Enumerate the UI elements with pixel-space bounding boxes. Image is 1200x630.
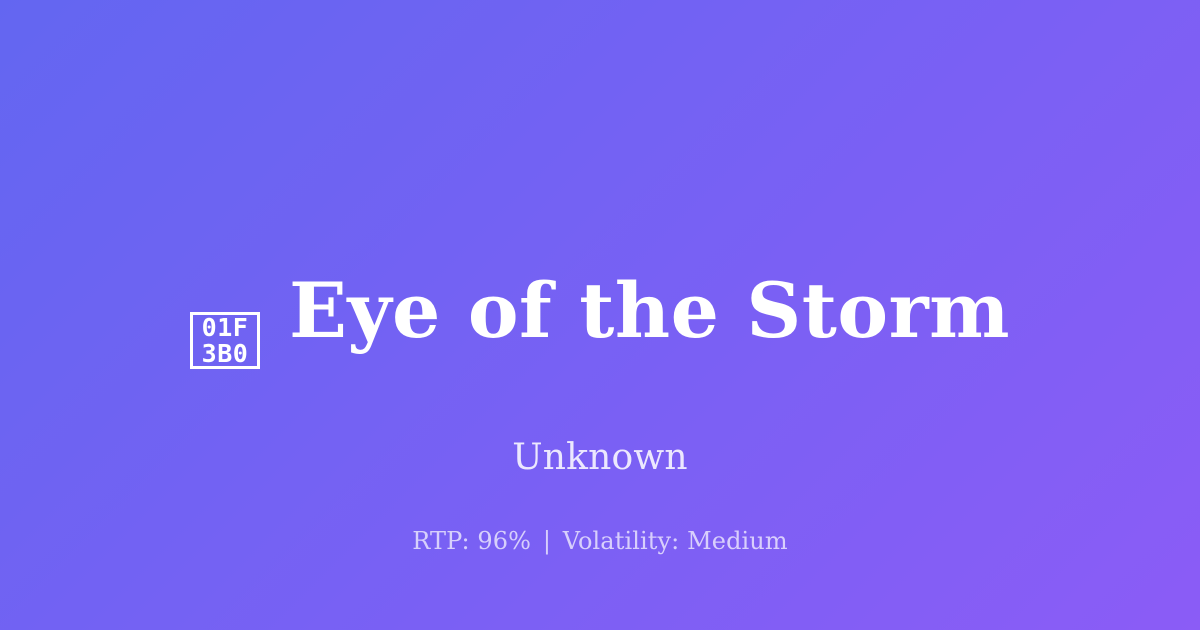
stats-separator: | [539, 527, 555, 555]
rtp-label: RTP: [412, 527, 469, 555]
game-stats-line: RTP: 96% | Volatility: Medium [0, 527, 1200, 555]
volatility-value: Medium [687, 527, 788, 555]
hero-block: 01F 3B0 Eye of the Storm Unknown [0, 222, 1200, 478]
volatility-label: Volatility: [563, 527, 680, 555]
game-title: Eye of the Storm [289, 273, 1010, 349]
tofu-codepoint-top: 01F [202, 315, 249, 340]
rtp-value: 96% [477, 527, 531, 555]
tofu-codepoint-bottom: 3B0 [202, 341, 249, 366]
title-row: 01F 3B0 Eye of the Storm [190, 222, 1010, 400]
slot-machine-icon: 01F 3B0 [190, 312, 260, 369]
game-subtitle: Unknown [512, 438, 688, 478]
game-preview-card: 01F 3B0 Eye of the Storm Unknown RTP: 96… [0, 0, 1200, 630]
